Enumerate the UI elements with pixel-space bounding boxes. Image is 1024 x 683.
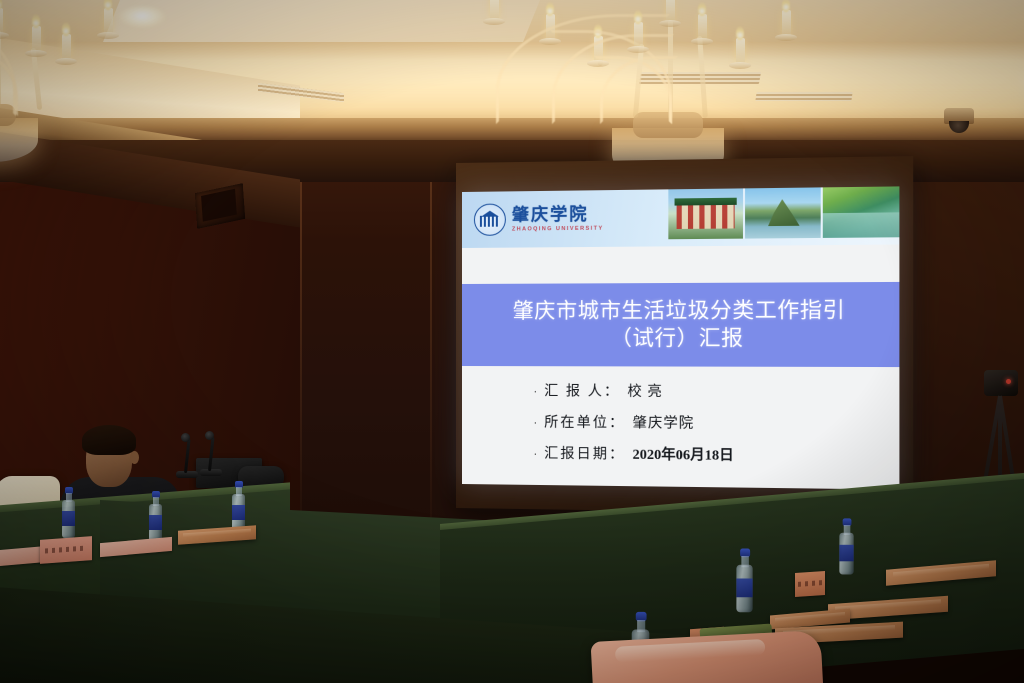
slide-header: 肇庆学院 ZHAOQING UNIVERSITY <box>462 186 899 248</box>
conference-hall-photo: 肇庆学院 ZHAOQING UNIVERSITY 肇庆市城市生活垃圾分类工作指引… <box>0 0 1024 683</box>
banner-photo-strip <box>668 186 899 239</box>
riverside-greenery-photo <box>823 186 900 238</box>
speaker-grille-icon <box>201 189 237 222</box>
bullet-label: 所在单位： <box>544 412 625 433</box>
water-bottle <box>232 482 245 532</box>
slide-title-line-1: 肇庆市城市生活垃圾分类工作指引 <box>513 297 846 325</box>
bullet-value: 肇庆学院 <box>633 412 695 433</box>
name-card <box>40 536 92 564</box>
list-item: · 汇报日期： 2020年06月18日 <box>533 443 795 466</box>
university-crest-icon <box>474 203 506 235</box>
attendee-ear <box>130 451 139 464</box>
bullet-label: 汇 报 人： <box>544 380 620 401</box>
bullet-dot-icon: · <box>533 419 537 430</box>
slide-title-line-2: （试行）汇报 <box>610 325 743 353</box>
recording-indicator-icon <box>1006 379 1011 384</box>
water-bottle <box>839 520 853 575</box>
bullet-label: 汇报日期： <box>544 443 625 464</box>
name-card-text <box>798 580 822 587</box>
water-bottle <box>736 550 752 613</box>
ceiling-camera-icon <box>944 108 974 124</box>
air-vent-icon <box>755 92 852 101</box>
wall-seam <box>300 180 302 560</box>
archway-bridge-photo <box>668 186 743 239</box>
bullet-value: 2020年06月18日 <box>633 444 734 465</box>
water-bottle <box>149 492 162 542</box>
recessed-downlight-icon <box>118 6 166 28</box>
water-bottle <box>62 488 75 538</box>
list-item: · 所在单位： 肇庆学院 <box>533 411 795 433</box>
name-card <box>795 571 825 597</box>
karst-mountain-lake-photo <box>745 186 821 238</box>
bullet-dot-icon: · <box>533 387 537 398</box>
wall-seam <box>430 180 432 560</box>
bullet-value: 校 亮 <box>627 381 662 401</box>
slide-bullet-list: · 汇 报 人： 校 亮 · 所在单位： 肇庆学院 · 汇报日期： 2020年0… <box>462 370 899 467</box>
attendee-hair <box>82 425 136 455</box>
university-logo: 肇庆学院 ZHAOQING UNIVERSITY <box>474 202 604 236</box>
slide-title-band: 肇庆市城市生活垃圾分类工作指引 （试行）汇报 <box>462 282 899 367</box>
name-card-text <box>45 546 87 554</box>
video-camera-icon <box>984 370 1018 396</box>
logo-chinese-name: 肇庆学院 <box>512 205 604 223</box>
list-item: · 汇 报 人： 校 亮 <box>533 380 795 402</box>
logo-english-name: ZHAOQING UNIVERSITY <box>512 226 604 233</box>
projection-screen[interactable]: 肇庆学院 ZHAOQING UNIVERSITY 肇庆市城市生活垃圾分类工作指引… <box>462 186 899 489</box>
bullet-dot-icon: · <box>533 450 537 461</box>
